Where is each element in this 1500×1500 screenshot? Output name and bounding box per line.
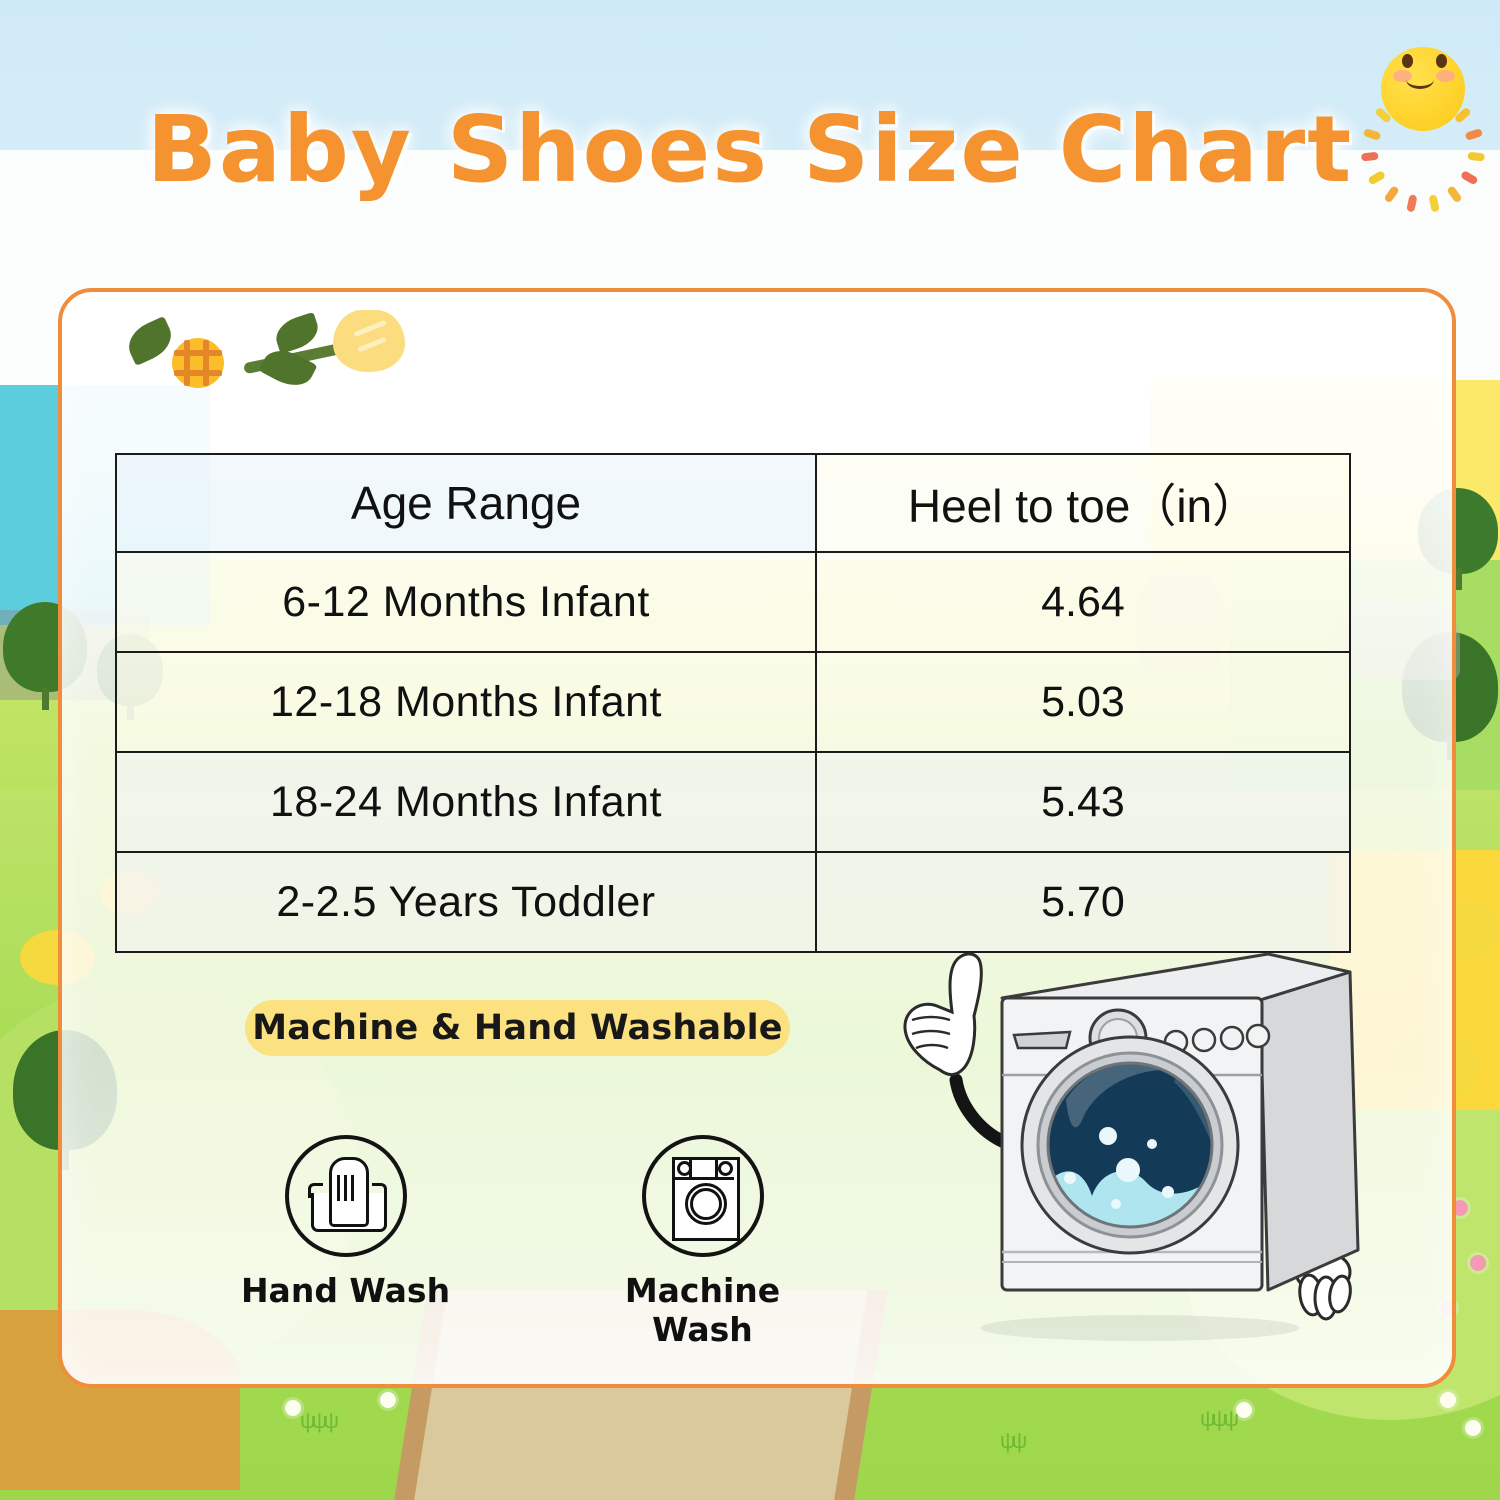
ground-flower — [1440, 1392, 1456, 1408]
cell-age-range: 2-2.5 Years Toddler — [116, 852, 816, 952]
cell-heel-to-toe: 5.03 — [816, 652, 1350, 752]
cell-age-range: 12-18 Months Infant — [116, 652, 816, 752]
hand-wash-group: Hand Wash — [238, 1135, 453, 1310]
machine-wash-icon — [642, 1135, 764, 1257]
hand-wash-icon — [285, 1135, 407, 1257]
size-table: Age Range Heel to toe（in） 6-12 Months In… — [115, 453, 1351, 953]
tulip-icon — [333, 310, 405, 372]
ground-flower — [1236, 1402, 1252, 1418]
machine-wash-label: Machine Wash — [595, 1271, 810, 1349]
cell-heel-to-toe: 5.43 — [816, 752, 1350, 852]
table-row: 18-24 Months Infant 5.43 — [116, 752, 1350, 852]
column-header-age-range: Age Range — [116, 454, 816, 552]
sun-face — [1381, 47, 1465, 131]
size-chart-poster: ψψψ ψψψ ψψ Baby Shoes Size Chart — [0, 0, 1500, 1500]
ground-flower — [285, 1400, 301, 1416]
table-header-row: Age Range Heel to toe（in） — [116, 454, 1350, 552]
column-header-heel-to-toe: Heel to toe（in） — [816, 454, 1350, 552]
sun-eye — [1402, 54, 1413, 68]
grass-blades: ψψψ — [300, 1410, 335, 1432]
ground-flower — [1465, 1420, 1481, 1436]
flower-decoration — [125, 300, 415, 410]
page-title: Baby Shoes Size Chart — [0, 96, 1500, 203]
cell-heel-to-toe: 4.64 — [816, 552, 1350, 652]
table-row: 12-18 Months Infant 5.03 — [116, 652, 1350, 752]
grass-blades: ψψ — [1000, 1430, 1023, 1452]
sunflower-icon — [143, 314, 253, 410]
machine-wash-group: Machine Wash — [595, 1135, 810, 1349]
ground-flower — [380, 1392, 396, 1408]
sun-eye — [1436, 54, 1447, 68]
washable-badge-label: Machine & Hand Washable — [252, 1008, 782, 1048]
cell-age-range: 18-24 Months Infant — [116, 752, 816, 852]
washable-badge: Machine & Hand Washable — [245, 1000, 790, 1056]
cell-age-range: 6-12 Months Infant — [116, 552, 816, 652]
sun-cheek — [1436, 70, 1455, 82]
washing-machine-mascot — [880, 920, 1380, 1345]
sun-smile — [1406, 70, 1434, 89]
table-row: 6-12 Months Infant 4.64 — [116, 552, 1350, 652]
grass-blades: ψψψ — [1200, 1408, 1235, 1430]
sun-icon — [1348, 14, 1498, 164]
hand-wash-label: Hand Wash — [238, 1271, 453, 1310]
ground-flower — [1470, 1255, 1486, 1271]
